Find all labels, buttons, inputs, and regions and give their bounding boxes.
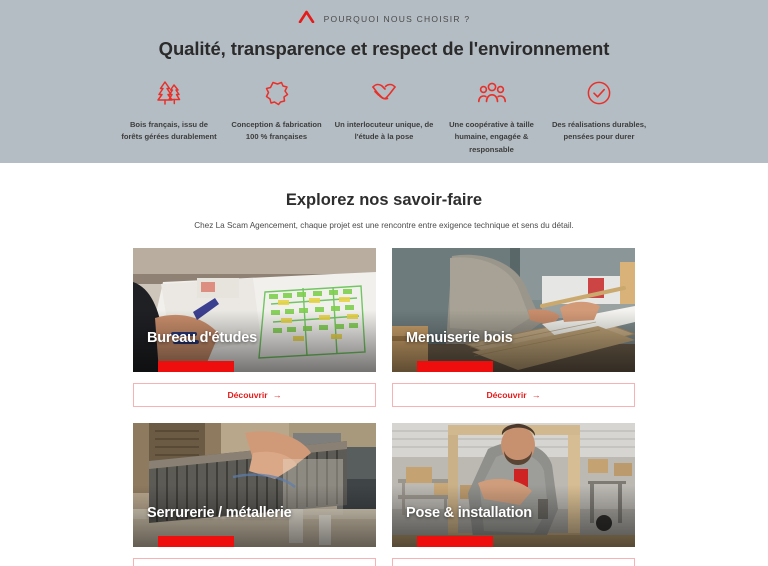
card-accent-bar bbox=[417, 361, 493, 372]
check-circle-icon bbox=[586, 78, 612, 108]
people-group-icon bbox=[477, 78, 507, 108]
section-subtitle: Chez La Scam Agencement, chaque projet e… bbox=[194, 221, 574, 230]
pine-trees-icon bbox=[154, 78, 184, 108]
card-accent-bar bbox=[158, 536, 234, 547]
feature-item-bois-francais: Bois français, issu de forêts gérées dur… bbox=[119, 78, 219, 156]
card-media[interactable]: Menuiserie bois bbox=[392, 248, 635, 372]
card-bureau-detudes[interactable]: Bureau d'études Découvrir → bbox=[133, 248, 376, 407]
feature-item-cooperative: Une coopérative à taille humaine, engagé… bbox=[442, 78, 542, 156]
savoir-faire-card-grid: Bureau d'études Découvrir → bbox=[133, 248, 635, 566]
card-pose-installation[interactable]: Pose & installation Découvrir → bbox=[392, 423, 635, 566]
feature-item-realisations-durables: Des réalisations durables, pensées pour … bbox=[549, 78, 649, 156]
card-accent-bar bbox=[417, 536, 493, 547]
arrow-right-icon: → bbox=[273, 391, 282, 400]
handshake-icon bbox=[369, 78, 399, 108]
feature-item-interlocuteur-unique: Un interlocuteur unique, de l'étude à la… bbox=[334, 78, 434, 156]
feature-label: Conception & fabrication 100 % française… bbox=[227, 119, 327, 144]
card-serrurerie-metallerie[interactable]: Serrurerie / métallerie Découvrir → bbox=[133, 423, 376, 566]
discover-button-serrurerie-metallerie[interactable]: Découvrir → bbox=[133, 558, 376, 566]
feature-label: Un interlocuteur unique, de l'étude à la… bbox=[334, 119, 434, 144]
card-media[interactable]: Serrurerie / métallerie bbox=[133, 423, 376, 547]
card-accent-bar bbox=[158, 361, 234, 372]
band-eyebrow: POURQUOI NOUS CHOISIR ? bbox=[298, 11, 471, 27]
savoir-faire-section: Explorez nos savoir-faire Chez La Scam A… bbox=[0, 163, 768, 566]
band-title: Qualité, transparence et respect de l'en… bbox=[159, 38, 610, 60]
discover-button-label: Découvrir bbox=[486, 390, 526, 400]
card-title: Serrurerie / métallerie bbox=[147, 505, 292, 521]
card-title: Pose & installation bbox=[406, 505, 532, 521]
caret-up-icon bbox=[298, 10, 315, 28]
why-choose-us-band: POURQUOI NOUS CHOISIR ? Qualité, transpa… bbox=[0, 0, 768, 163]
feature-label: Des réalisations durables, pensées pour … bbox=[549, 119, 649, 144]
section-title: Explorez nos savoir-faire bbox=[286, 191, 482, 210]
card-menuiserie-bois[interactable]: Menuiserie bois Découvrir → bbox=[392, 248, 635, 407]
feature-item-fabrication-francaise: Conception & fabrication 100 % française… bbox=[227, 78, 327, 156]
discover-button-label: Découvrir bbox=[227, 390, 267, 400]
feature-label: Bois français, issu de forêts gérées dur… bbox=[119, 119, 219, 144]
arrow-right-icon: → bbox=[532, 391, 541, 400]
band-eyebrow-label: POURQUOI NOUS CHOISIR ? bbox=[324, 14, 471, 24]
discover-button-menuiserie-bois[interactable]: Découvrir → bbox=[392, 383, 635, 407]
feature-label: Une coopérative à taille humaine, engagé… bbox=[442, 119, 542, 156]
card-media[interactable]: Bureau d'études bbox=[133, 248, 376, 372]
card-title: Bureau d'études bbox=[147, 330, 257, 346]
france-map-icon bbox=[263, 78, 291, 108]
feature-list: Bois français, issu de forêts gérées dur… bbox=[119, 78, 649, 156]
discover-button-bureau-detudes[interactable]: Découvrir → bbox=[133, 383, 376, 407]
card-media[interactable]: Pose & installation bbox=[392, 423, 635, 547]
card-title: Menuiserie bois bbox=[406, 330, 513, 346]
discover-button-pose-installation[interactable]: Découvrir → bbox=[392, 558, 635, 566]
